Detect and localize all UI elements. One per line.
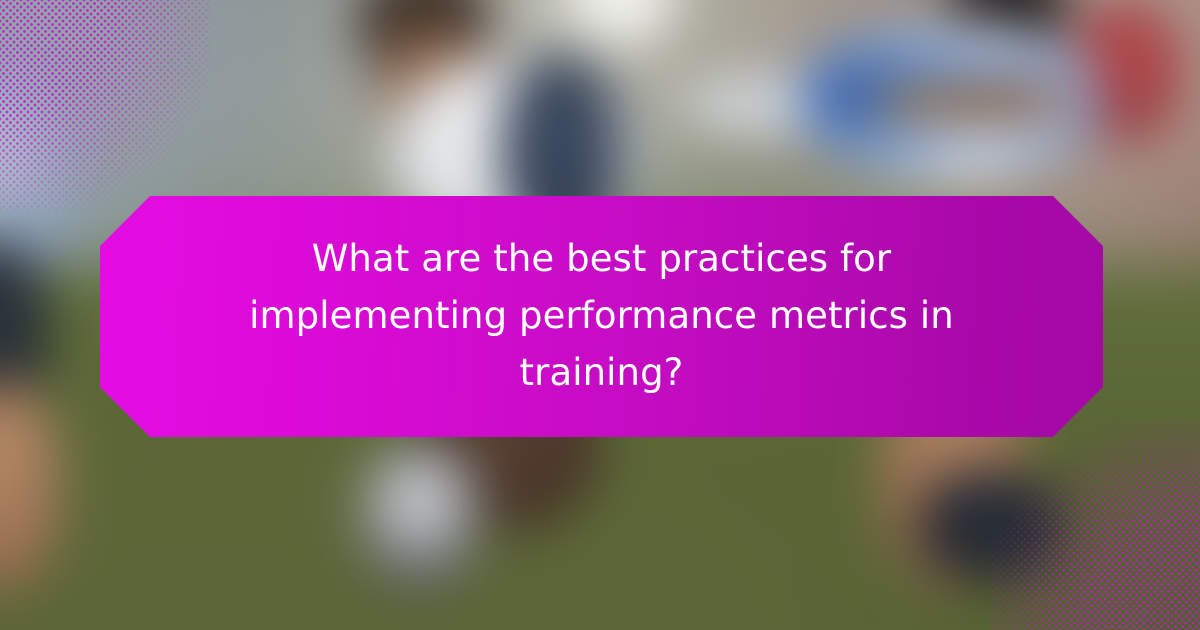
question-banner: What are the best practices for implemen… — [100, 196, 1103, 437]
right-player-armband — [870, 88, 1080, 118]
center-player-sock — [360, 440, 480, 590]
banner-title: What are the best practices for implemen… — [182, 230, 1022, 403]
social-card: What are the best practices for implemen… — [0, 0, 1200, 630]
right-player-shoe — [920, 470, 1060, 580]
